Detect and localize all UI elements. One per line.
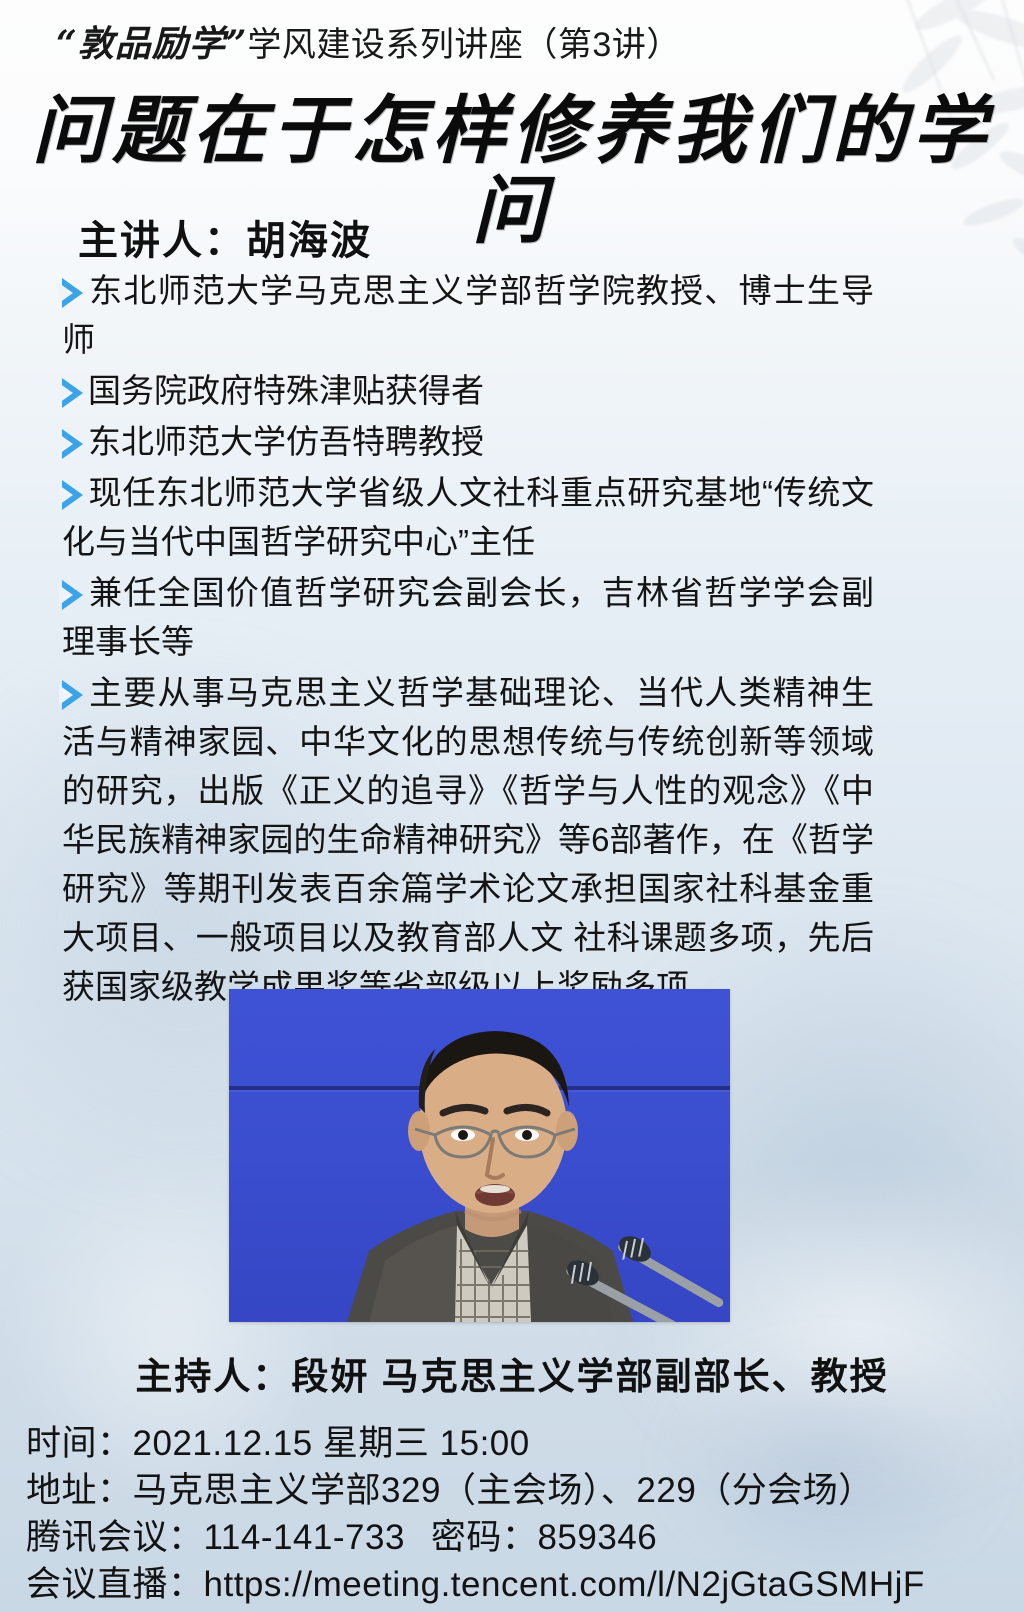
triangle-bullet-icon <box>62 580 83 610</box>
list-item-text: 主要从事马克思主义哲学基础理论、当代人类精神生活与精神家园、中华文化的思想传统与… <box>62 674 874 1005</box>
poster-root: “敦品励学”学风建设系列讲座（第3讲） 问题在于怎样修养我们的学问 主讲人：胡海… <box>0 0 1024 1612</box>
detail-live-url[interactable]: https://meeting.tencent.com/l/N2jGtaGSMH… <box>204 1565 925 1604</box>
detail-meeting: 腾讯会议：114-141-733密码：859346 <box>26 1514 1006 1561</box>
detail-password-label: 密码： <box>431 1518 538 1557</box>
speaker-portrait-illustration <box>229 989 730 1322</box>
list-item: 现任东北师范大学省级人文社科重点研究基地“传统文化与当代中国哲学研究中心”主任 <box>62 468 874 566</box>
detail-meeting-value: 114-141-733 <box>204 1518 405 1557</box>
triangle-bullet-icon <box>62 378 83 408</box>
triangle-bullet-icon <box>62 680 83 710</box>
list-item-text: 现任东北师范大学省级人文社科重点研究基地“传统文化与当代中国哲学研究中心”主任 <box>62 474 874 560</box>
detail-time: 时间：2021.12.15 星期三 15:00 <box>26 1420 1006 1467</box>
detail-time-label: 时间： <box>26 1424 133 1463</box>
triangle-bullet-icon <box>62 480 83 510</box>
detail-live: 会议直播：https://meeting.tencent.com/l/N2jGt… <box>26 1561 1006 1608</box>
detail-address: 地址：马克思主义学部329（主会场）、229（分会场） <box>26 1467 1006 1514</box>
triangle-bullet-icon <box>62 278 83 308</box>
list-item-text: 东北师范大学仿吾特聘教授 <box>88 423 484 460</box>
list-item: 东北师范大学仿吾特聘教授 <box>62 417 874 466</box>
list-item-text: 东北师范大学马克思主义学部哲学院教授、博士生导师 <box>62 272 874 358</box>
series-subtitle: “敦品励学”学风建设系列讲座（第3讲） <box>56 22 681 67</box>
list-item-text: 兼任全国价值哲学研究会副会长，吉林省哲学学会副理事长等 <box>62 574 874 660</box>
speaker-bio-list: 东北师范大学马克思主义学部哲学院教授、博士生导师 国务院政府特殊津贴获得者 东北… <box>62 266 874 1013</box>
list-item: 国务院政府特殊津贴获得者 <box>62 366 874 415</box>
host-line: 主持人：段妍 马克思主义学部副部长、教授 <box>0 1346 1024 1400</box>
detail-password-value: 859346 <box>537 1518 657 1557</box>
speaker-photo <box>229 989 730 1322</box>
detail-address-value: 马克思主义学部329（主会场）、229（分会场） <box>133 1471 874 1510</box>
detail-live-label: 会议直播： <box>26 1565 204 1604</box>
detail-time-value: 2021.12.15 星期三 15:00 <box>133 1424 530 1463</box>
list-item: 兼任全国价值哲学研究会副会长，吉林省哲学学会副理事长等 <box>62 568 874 666</box>
triangle-bullet-icon <box>62 429 83 459</box>
list-item: 主要从事马克思主义哲学基础理论、当代人类精神生活与精神家园、中华文化的思想传统与… <box>62 668 874 1011</box>
detail-meeting-label: 腾讯会议： <box>26 1518 204 1557</box>
series-rest-text: 学风建设系列讲座（第3讲） <box>247 26 680 64</box>
series-quote-text: “敦品励学” <box>56 23 247 65</box>
event-details: 时间：2021.12.15 星期三 15:00 地址：马克思主义学部329（主会… <box>26 1420 1006 1608</box>
detail-address-label: 地址： <box>26 1471 133 1510</box>
list-item: 东北师范大学马克思主义学部哲学院教授、博士生导师 <box>62 266 874 364</box>
list-item-text: 国务院政府特殊津贴获得者 <box>88 372 484 409</box>
speaker-name-line: 主讲人：胡海波 <box>78 208 372 266</box>
